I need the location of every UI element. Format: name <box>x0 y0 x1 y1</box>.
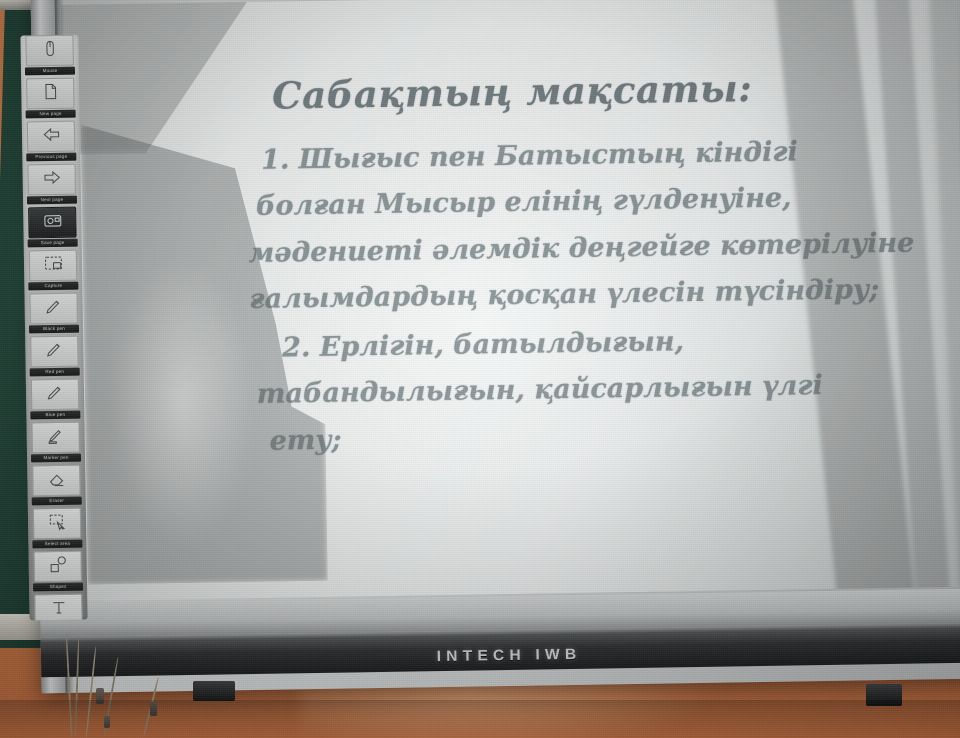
photo-scene: Сабақтың мақсаты: 1. Шығыс пен Батыстың … <box>0 0 960 738</box>
tool-button-label: Save page <box>28 239 78 248</box>
tool-button-shapes[interactable] <box>34 551 82 583</box>
tool-button-marker-pen[interactable] <box>31 422 79 454</box>
arrow-right-icon <box>42 167 61 191</box>
tool-button-text[interactable] <box>34 594 82 621</box>
tool-button-next-page[interactable] <box>27 164 75 196</box>
tool-button-mouse[interactable] <box>25 35 73 67</box>
tool-button-label: Mouse <box>25 67 75 76</box>
tool-button-select-area[interactable] <box>33 508 81 540</box>
text-icon <box>49 597 68 620</box>
tool-button-label: Shapes <box>33 583 83 592</box>
tool-button-blue-pen[interactable] <box>31 379 79 411</box>
tool-button-previous-page[interactable] <box>27 121 75 153</box>
wall-mount-bracket-left <box>193 681 235 701</box>
interactive-whiteboard[interactable]: Сабақтың мақсаты: 1. Шығыс пен Батыстың … <box>31 0 960 693</box>
tool-button-new-page[interactable] <box>26 78 74 110</box>
tool-button-eraser[interactable] <box>32 465 80 497</box>
arrow-left-icon <box>41 124 60 148</box>
shapes-icon <box>48 554 67 578</box>
tool-button-label: Select area <box>32 540 82 549</box>
tool-button-label: Previous page <box>26 153 76 162</box>
tool-button-label: Blue pen <box>30 411 80 420</box>
tool-button-save-page[interactable] <box>28 207 76 239</box>
new-page-icon <box>41 81 60 105</box>
screen-vignette <box>61 0 960 601</box>
tool-button-label: Marker pen <box>31 454 81 463</box>
pen-icon <box>45 339 64 363</box>
tool-button-label: New page <box>26 110 76 119</box>
capture-icon <box>43 253 62 277</box>
mouse-icon <box>40 38 59 62</box>
whiteboard-toolbar[interactable]: MouseNew pagePrevious pageNext pageSave … <box>20 35 87 621</box>
tool-button-capture[interactable] <box>29 250 77 282</box>
camera-icon <box>43 210 62 234</box>
highlighter-icon <box>46 425 65 449</box>
tool-button-label: Eraser <box>32 497 82 506</box>
tool-button-red-pen[interactable] <box>30 336 78 368</box>
floor-shadow <box>0 700 960 738</box>
projection-screen[interactable]: Сабақтың мақсаты: 1. Шығыс пен Батыстың … <box>61 0 960 601</box>
pen-icon <box>45 382 64 406</box>
tool-button-label: Red pen <box>30 368 80 377</box>
eraser-icon <box>47 468 66 492</box>
tool-button-black-pen[interactable] <box>29 293 77 325</box>
tool-button-label: Capture <box>28 282 78 291</box>
tool-button-label: Next page <box>27 196 77 205</box>
select-icon <box>47 511 66 535</box>
tool-button-label: Black pen <box>29 325 79 334</box>
pen-icon <box>44 296 63 320</box>
